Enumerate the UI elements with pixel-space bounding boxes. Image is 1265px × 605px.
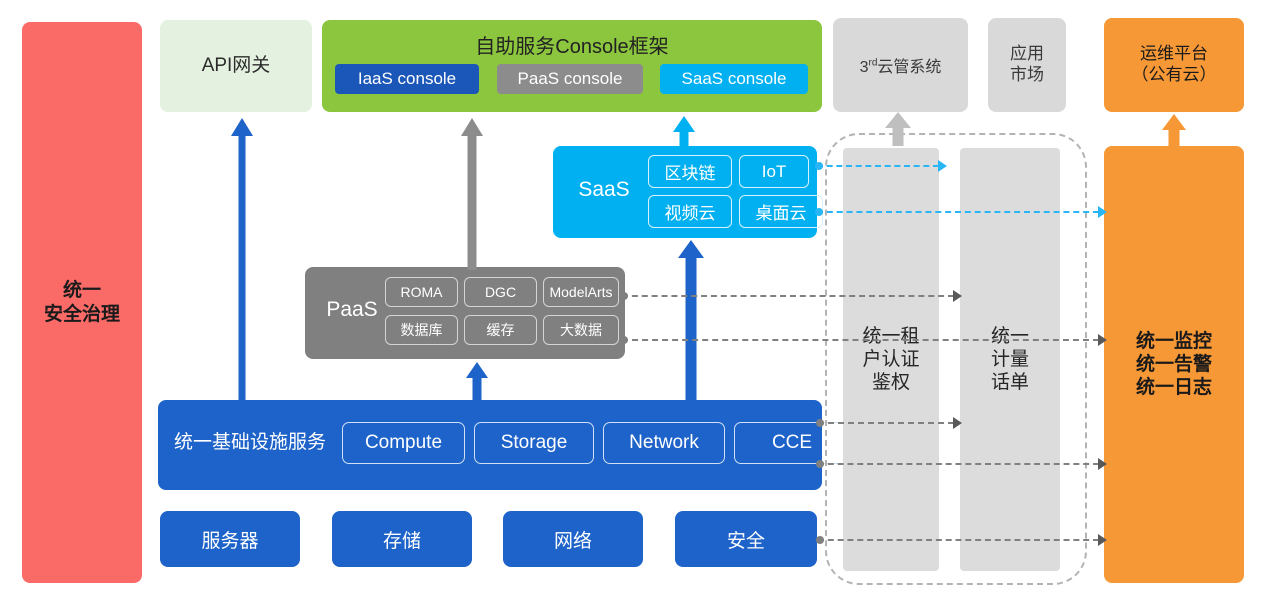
arrow-line (818, 539, 1099, 541)
arrow-saas-to-console (672, 116, 696, 148)
arrow-head (231, 118, 253, 136)
arrow-iaas-to-paas (465, 362, 489, 402)
arrow-line (622, 295, 954, 297)
api-gateway-box: API网关 (160, 20, 312, 112)
arrow-line (818, 422, 954, 424)
arrow-head (1162, 114, 1186, 130)
arrow-line (817, 165, 939, 167)
third-party-cloud-mgmt-box: 3rd云管系统 (833, 18, 968, 112)
dashed-arrow-saas-to-auth (817, 160, 947, 172)
arrow-shaft (473, 376, 482, 402)
arrow-shaft (893, 126, 904, 146)
iaas-chip-network[interactable]: Network (603, 422, 725, 464)
ops-monitoring-label: 统一监控 统一告警 统一日志 (1136, 330, 1212, 400)
paas-chip-database[interactable]: 数据库 (385, 315, 458, 345)
dashed-arrow-resources-to-ops (818, 534, 1107, 546)
iaas-layer-label: 统一基础设施服务 (174, 427, 326, 454)
arrow-line (818, 463, 1099, 465)
saas-chip-iot[interactable]: IoT (739, 155, 809, 188)
arrow-head (885, 112, 911, 128)
arrow-head (1098, 334, 1107, 346)
paas-chip-cache[interactable]: 缓存 (464, 315, 537, 345)
arrow-line (817, 211, 1099, 213)
paas-console-chip[interactable]: PaaS console (497, 64, 643, 94)
console-framework-box: 自助服务Console框架 IaaS console PaaS console … (322, 20, 822, 112)
connector-dot (620, 292, 628, 300)
resource-box-server[interactable]: 服务器 (160, 511, 300, 567)
arrow-iaas-to-api-gateway (230, 118, 254, 402)
app-market-label: 应用 市场 (1010, 44, 1044, 85)
saas-console-chip[interactable]: SaaS console (660, 64, 808, 94)
third-party-cloud-mgmt-label: 3rd云管系统 (860, 53, 942, 77)
saas-chip-blockchain[interactable]: 区块链 (648, 155, 732, 188)
paas-chip-bigdata[interactable]: 大数据 (543, 315, 619, 345)
arrow-line (622, 339, 1099, 341)
arrow-shaft (680, 130, 689, 148)
paas-chip-roma[interactable]: ROMA (385, 277, 458, 307)
arrow-head (673, 116, 695, 132)
saas-layer-box: SaaS 区块链 IoT 视频云 桌面云 (553, 146, 817, 238)
arrow-head (938, 160, 947, 172)
connector-dot (620, 336, 628, 344)
api-gateway-label: API网关 (202, 54, 271, 77)
saas-chip-desktop-cloud[interactable]: 桌面云 (739, 195, 823, 228)
architecture-diagram: 统一 安全治理 API网关 自助服务Console框架 IaaS console… (0, 0, 1265, 605)
paas-layer-box: PaaS ROMA DGC ModelArts 数据库 缓存 大数据 (305, 267, 625, 359)
paas-chip-modelarts[interactable]: ModelArts (543, 277, 619, 307)
dashed-arrow-iaas-to-ops (818, 458, 1107, 470)
security-governance-column: 统一 安全治理 (22, 22, 142, 583)
connector-dot (816, 460, 824, 468)
connector-dot (816, 419, 824, 427)
dashed-arrow-saas-to-ops (817, 206, 1107, 218)
arrow-head (678, 240, 704, 258)
arrow-shaft (468, 134, 477, 270)
paas-layer-label: PaaS (313, 298, 391, 322)
connector-dot (815, 208, 823, 216)
saas-chip-video-cloud[interactable]: 视频云 (648, 195, 732, 228)
arrow-shared-to-third-party (886, 112, 910, 146)
ops-platform-label: 运维平台 （公有云） (1132, 44, 1217, 85)
arrow-head (953, 417, 962, 429)
dashed-arrow-paas-to-ops (622, 334, 1107, 346)
arrow-paas-to-console (460, 118, 484, 270)
console-framework-title: 自助服务Console框架 (322, 30, 822, 59)
connector-dot (815, 162, 823, 170)
ops-platform-box: 运维平台 （公有云） (1104, 18, 1244, 112)
arrow-head (1098, 458, 1107, 470)
iaas-layer-box: 统一基础设施服务 Compute Storage Network CCE (158, 400, 822, 490)
resource-box-network[interactable]: 网络 (503, 511, 643, 567)
dashed-arrow-paas-to-metering (622, 290, 962, 302)
resource-box-security[interactable]: 安全 (675, 511, 817, 567)
arrow-shaft (686, 256, 697, 402)
resource-box-storage[interactable]: 存储 (332, 511, 472, 567)
saas-layer-label: SaaS (565, 178, 643, 202)
arrow-head (461, 118, 483, 136)
connector-dot (816, 536, 824, 544)
arrow-shaft (239, 134, 246, 402)
arrow-head (1098, 206, 1107, 218)
arrow-ops-column-to-platform (1162, 114, 1186, 148)
dashed-arrow-iaas-to-metering (818, 417, 962, 429)
security-governance-label: 统一 安全治理 (44, 279, 120, 325)
iaas-chip-storage[interactable]: Storage (474, 422, 594, 464)
arrow-shaft (1169, 128, 1180, 148)
arrow-head (466, 362, 488, 378)
iaas-console-chip[interactable]: IaaS console (335, 64, 479, 94)
arrow-head (953, 290, 962, 302)
paas-chip-dgc[interactable]: DGC (464, 277, 537, 307)
arrow-iaas-to-saas (678, 240, 704, 402)
app-market-box: 应用 市场 (988, 18, 1066, 112)
iaas-chip-compute[interactable]: Compute (342, 422, 465, 464)
arrow-head (1098, 534, 1107, 546)
ops-monitoring-column: 统一监控 统一告警 统一日志 (1104, 146, 1244, 583)
